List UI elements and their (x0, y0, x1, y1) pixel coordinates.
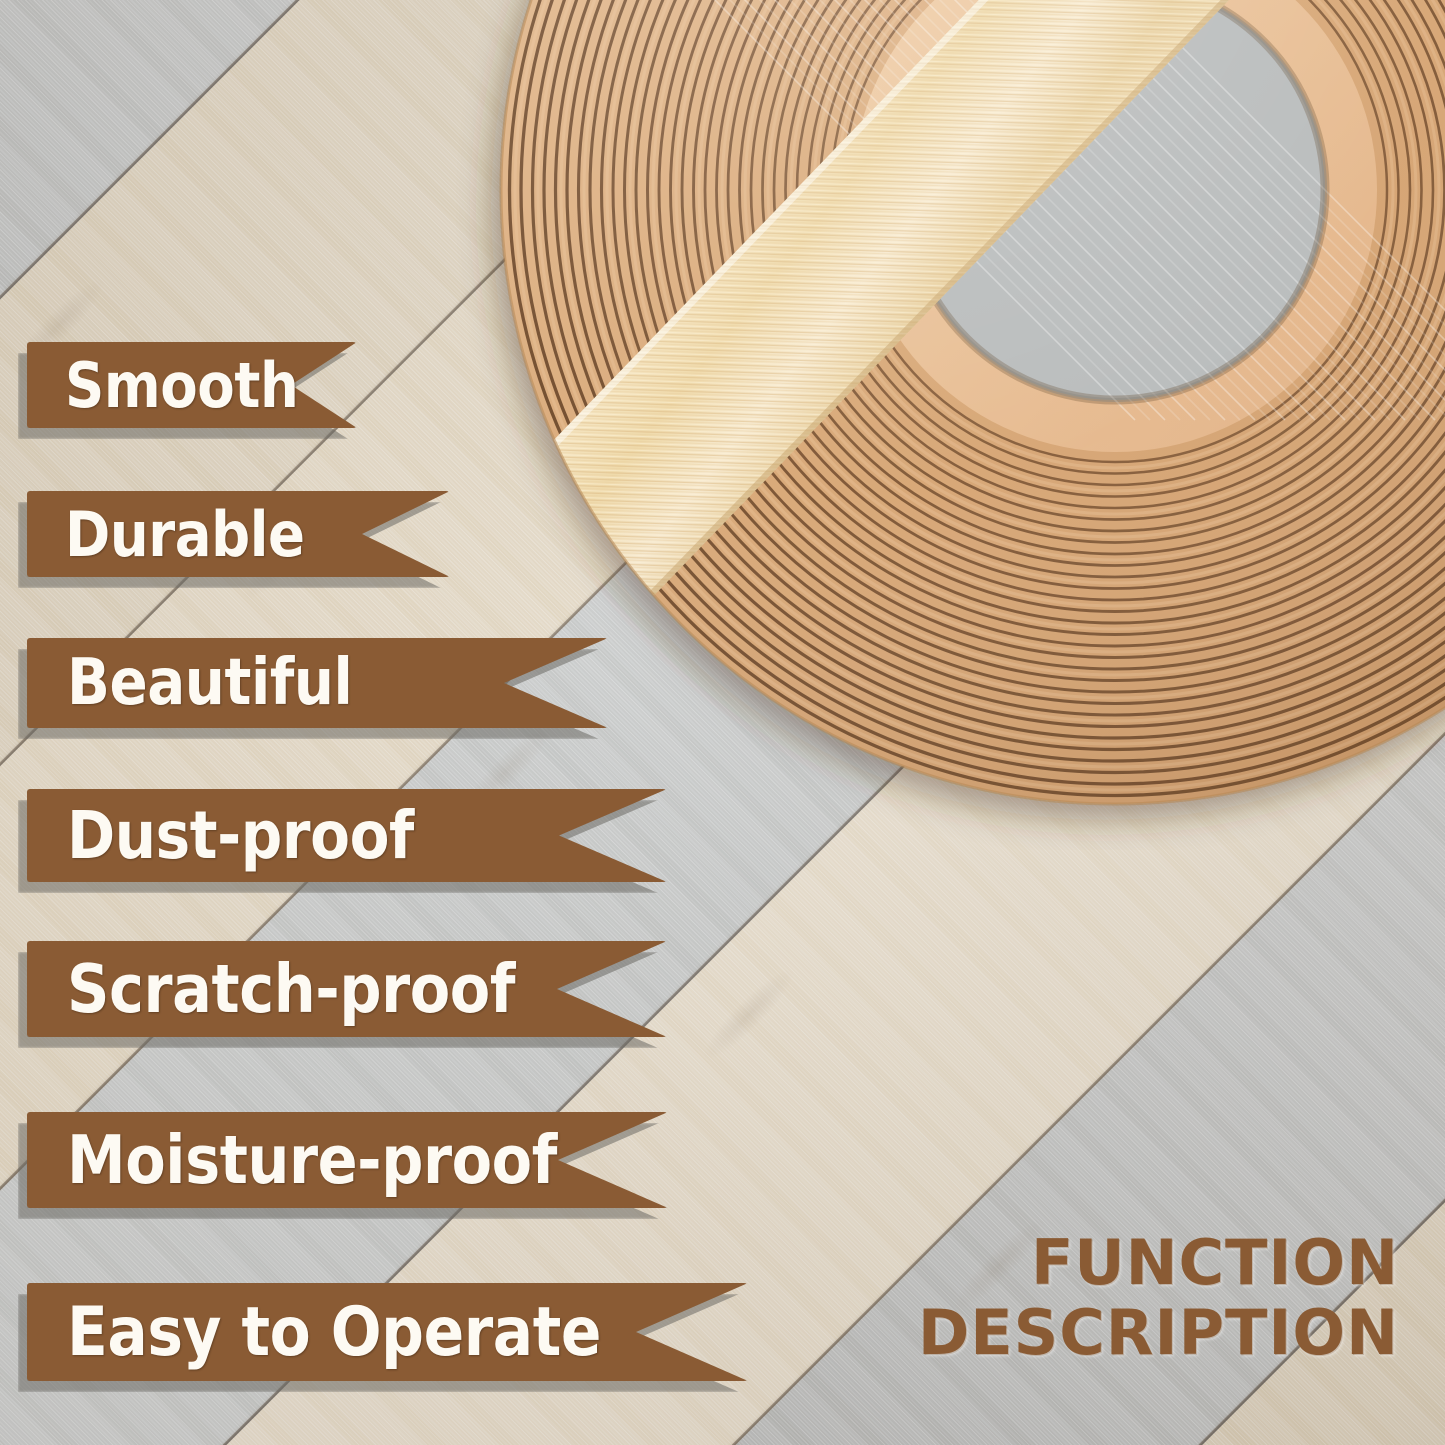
function-description-heading: FUNCTION DESCRIPTION (918, 1228, 1399, 1367)
feature-banner-label: Beautiful (67, 646, 352, 720)
heading-line-2: DESCRIPTION (918, 1298, 1399, 1367)
feature-banner: Dust-proof (27, 789, 667, 882)
feature-banner-label: Scratch-proof (67, 950, 515, 1028)
feature-banner: Smooth (27, 342, 357, 428)
product-infographic: SmoothDurableBeautifulDust-proofScratch-… (0, 0, 1445, 1445)
feature-banner-label: Smooth (65, 349, 298, 422)
feature-banner-label: Durable (65, 498, 305, 571)
feature-banner: Beautiful (27, 638, 608, 728)
feature-banner-label: Moisture-proof (67, 1121, 557, 1199)
heading-line-1: FUNCTION (918, 1228, 1399, 1297)
feature-banner: Moisture-proof (27, 1112, 668, 1208)
feature-banner: Durable (27, 491, 450, 577)
feature-banner: Easy to Operate (27, 1283, 748, 1381)
feature-banner: Scratch-proof (27, 941, 667, 1037)
feature-banner-label: Dust-proof (67, 797, 414, 874)
feature-banner-label: Easy to Operate (67, 1293, 601, 1372)
